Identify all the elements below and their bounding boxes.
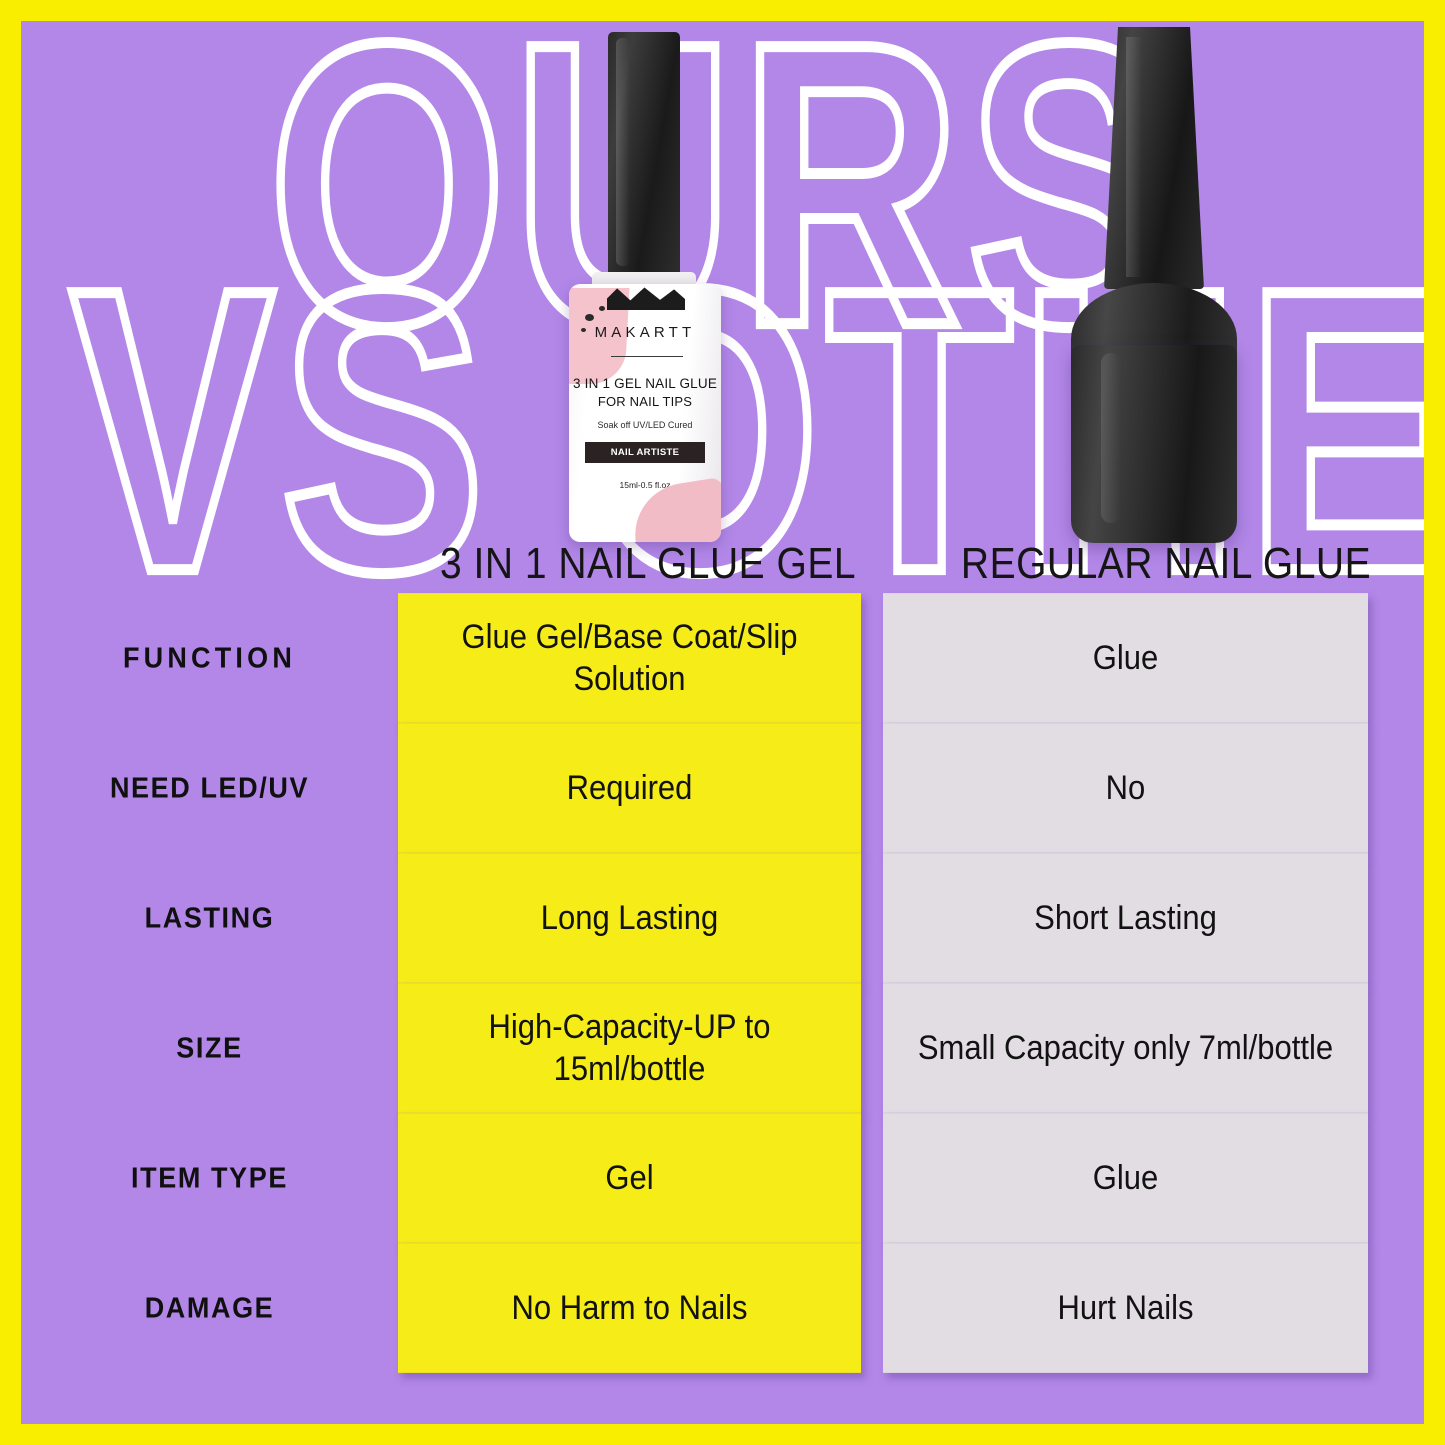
column-header-other: REGULAR NAIL GLUE: [921, 540, 1411, 589]
cell-ours-value: Long Lasting: [398, 853, 861, 983]
row-label: DAMAGE: [21, 1245, 398, 1370]
comparison-infographic: OURS VS OTHERS MAKARTT 3 IN 1 GEL NAIL G…: [0, 0, 1445, 1445]
cell-ours-value: High-Capacity-UP to 15ml/bottle: [398, 983, 861, 1113]
cell-other-value: Short Lasting: [883, 853, 1368, 983]
cell-ours-value: No Harm to Nails: [398, 1243, 861, 1373]
row-label: NEED LED/UV: [21, 725, 398, 850]
regular-nail-glue-bottle-image: [1049, 27, 1259, 547]
column-gap: [861, 859, 883, 977]
label-collection-text: NAIL ARTISTE COLLECTION: [585, 442, 705, 484]
row-label: SIZE: [21, 985, 398, 1110]
column-gap: [861, 729, 883, 847]
table-row: LASTINGLong LastingShort Lasting: [21, 859, 1424, 977]
column-gap: [861, 1249, 883, 1367]
column-gap: [861, 1119, 883, 1237]
cell-ours-value: Gel: [398, 1113, 861, 1243]
makartt-gel-bottle-image: MAKARTT 3 IN 1 GEL NAIL GLUE FOR NAIL TI…: [545, 32, 745, 552]
label-dot-2: [599, 306, 605, 311]
cell-other-value: Glue: [883, 593, 1368, 723]
table-row: ITEM TYPEGelGlue: [21, 1119, 1424, 1237]
table-row: DAMAGENo Harm to NailsHurt Nails: [21, 1249, 1424, 1367]
bottle-body-label: MAKARTT 3 IN 1 GEL NAIL GLUE FOR NAIL TI…: [569, 284, 721, 542]
purple-panel: OURS VS OTHERS MAKARTT 3 IN 1 GEL NAIL G…: [21, 21, 1424, 1424]
competitor-bottle-cap: [1104, 27, 1204, 289]
label-dot-1: [585, 314, 594, 321]
label-product-title-line1: 3 IN 1 GEL NAIL GLUE: [569, 376, 721, 391]
label-product-subtitle: Soak off UV/LED Cured: [569, 420, 721, 430]
label-brand-name: MAKARTT: [569, 324, 721, 341]
row-label: ITEM TYPE: [21, 1115, 398, 1240]
comparison-table: FUNCTIONGlue Gel/Base Coat/Slip Solution…: [21, 599, 1424, 1367]
label-product-title-line2: FOR NAIL TIPS: [569, 394, 721, 409]
competitor-bottle-body: [1071, 345, 1237, 543]
row-label: LASTING: [21, 855, 398, 980]
table-row: FUNCTIONGlue Gel/Base Coat/Slip Solution…: [21, 599, 1424, 717]
column-gap: [861, 989, 883, 1107]
cell-other-value: No: [883, 723, 1368, 853]
table-row: NEED LED/UVRequiredNo: [21, 729, 1424, 847]
table-row: SIZEHigh-Capacity-UP to 15ml/bottleSmall…: [21, 989, 1424, 1107]
column-gap: [861, 599, 883, 717]
cell-ours-value: Required: [398, 723, 861, 853]
cell-other-value: Glue: [883, 1113, 1368, 1243]
row-label: FUNCTION: [21, 595, 398, 720]
cell-other-value: Small Capacity only 7ml/bottle: [883, 983, 1368, 1113]
label-collection-band: NAIL ARTISTE COLLECTION: [585, 442, 705, 463]
cell-ours-value: Glue Gel/Base Coat/Slip Solution: [398, 593, 861, 723]
cell-other-value: Hurt Nails: [883, 1243, 1368, 1373]
bottle-cap: [608, 32, 680, 280]
label-divider-rule: [611, 356, 683, 357]
column-header-ours: 3 IN 1 NAIL GLUE GEL: [398, 540, 898, 589]
